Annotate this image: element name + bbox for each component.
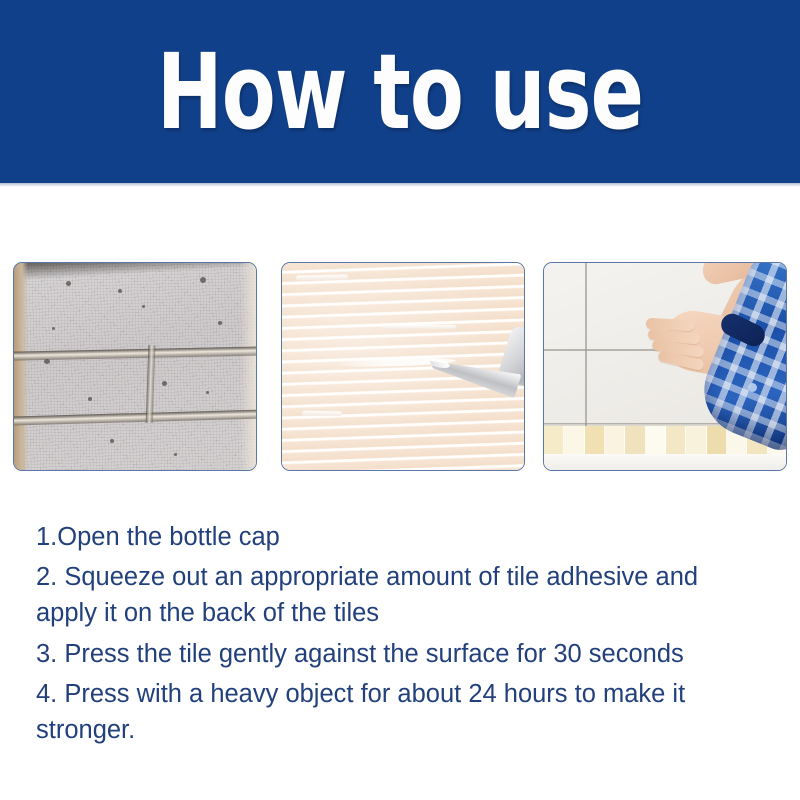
banner-drop-shadow — [0, 183, 800, 187]
adhesive-bead — [302, 411, 342, 417]
panel-apply-adhesive — [281, 262, 525, 471]
mosaic-tile — [564, 426, 584, 454]
press-tile-photo — [544, 263, 786, 470]
wall-plaster-texture — [19, 263, 256, 470]
mosaic-tile — [544, 426, 564, 454]
step-photo-row — [0, 262, 800, 474]
wall-speck — [218, 321, 222, 325]
wall-speck — [200, 277, 206, 283]
sleeve-button — [748, 383, 757, 392]
mosaic-tile — [625, 426, 645, 454]
wall-speck — [110, 439, 114, 443]
wall-speck — [52, 327, 55, 330]
wall-speck — [118, 289, 122, 293]
header-banner: How to use — [0, 0, 800, 183]
mosaic-tile — [605, 426, 625, 454]
grout-line-vertical — [585, 263, 587, 439]
panel-bare-wall — [13, 262, 257, 471]
adhesive-tube-nozzle — [430, 321, 524, 393]
instruction-step-4: 4. Press with a heavy object for about 2… — [36, 676, 760, 748]
panel-press-tile — [543, 262, 787, 471]
instruction-step-1: 1.Open the bottle cap — [36, 519, 760, 555]
wall-right-edge — [240, 263, 256, 470]
instruction-list: 1.Open the bottle cap 2. Squeeze out an … — [36, 519, 760, 752]
worker-arm — [662, 263, 786, 470]
wall-speck — [206, 391, 209, 394]
wall-speck — [174, 453, 177, 456]
wall-speck — [66, 281, 71, 286]
instruction-step-3: 3. Press the tile gently against the sur… — [36, 636, 760, 672]
bare-wall-photo — [14, 263, 256, 470]
wall-speck — [162, 381, 167, 386]
mosaic-tile — [585, 426, 605, 454]
wall-left-edge — [14, 263, 28, 470]
wall-speck — [142, 305, 145, 308]
adhesive-application-photo — [282, 263, 524, 470]
instruction-step-2: 2. Squeeze out an appropriate amount of … — [36, 559, 760, 631]
wall-speck — [44, 359, 50, 364]
wall-speck — [88, 397, 92, 401]
page-title: How to use — [64, 0, 736, 183]
